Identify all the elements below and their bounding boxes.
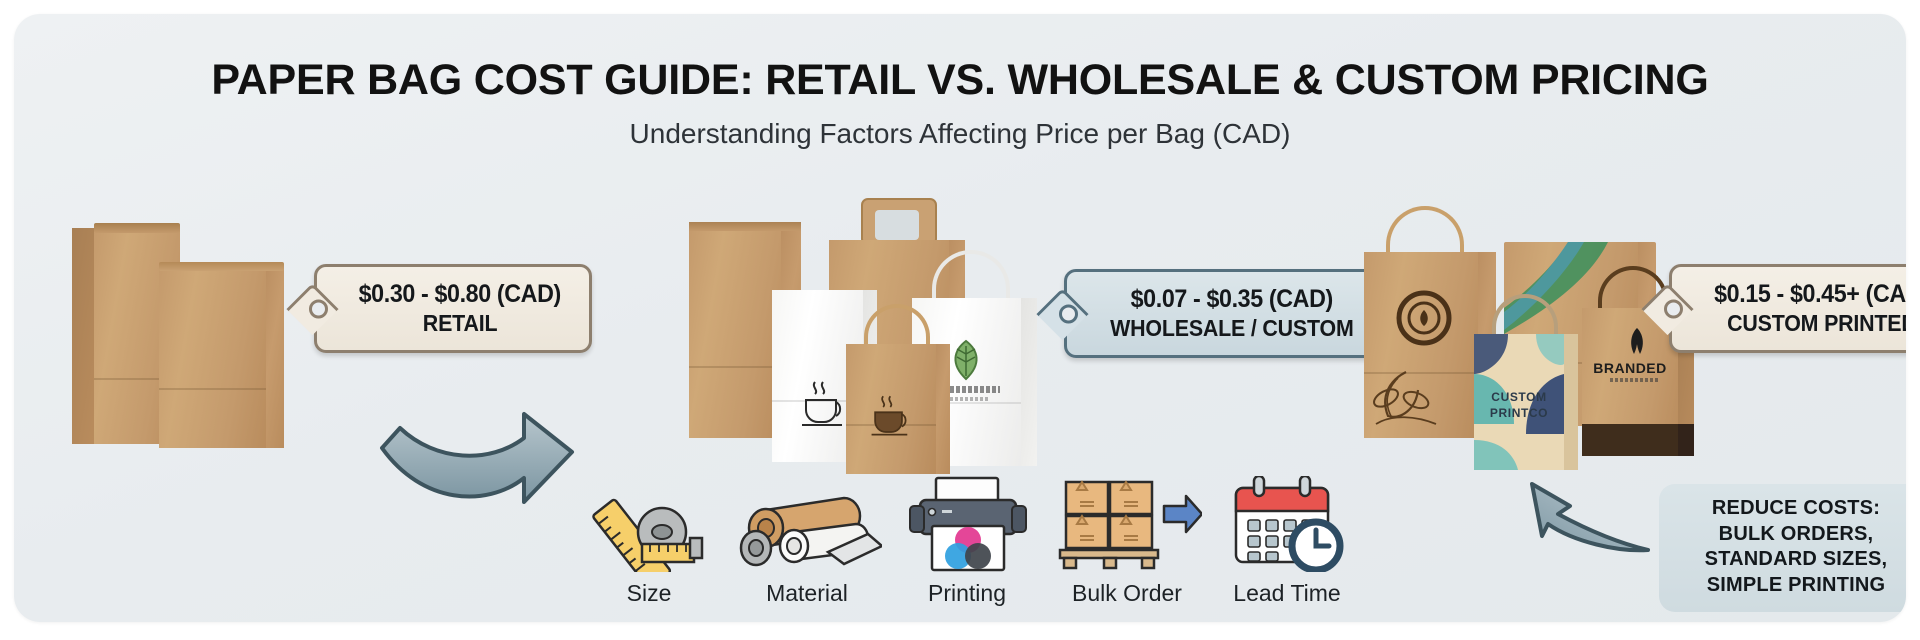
coffee-cup-print-icon-small <box>868 392 918 438</box>
factor-material-label: Material <box>732 580 882 607</box>
branded-print-text: BRANDED <box>1582 360 1678 376</box>
page-title: PAPER BAG COST GUIDE: RETAIL VS. WHOLESA… <box>14 56 1906 105</box>
arrow-reduce-to-custom-icon <box>1522 466 1667 586</box>
infographic-card: PAPER BAG COST GUIDE: RETAIL VS. WHOLESA… <box>14 14 1906 622</box>
reduce-costs-line-3: STANDARD SIZES, <box>1671 547 1906 573</box>
price-range-wholesale: $0.07 - $0.35 (CAD) <box>1131 285 1333 314</box>
tag-hole-icon <box>1059 304 1078 323</box>
custom-printco-bag: CUSTOM PRINTCO <box>1474 334 1578 470</box>
page-subtitle: Understanding Factors Affecting Price pe… <box>14 118 1906 150</box>
leaf-brand-logo-print-icon <box>1620 326 1654 356</box>
bag-group-custom: BRANDED CUSTOM PRINTCO <box>1354 194 1694 464</box>
reduce-costs-box: REDUCE COSTS: BULK ORDERS, STANDARD SIZE… <box>1659 484 1906 612</box>
factor-bulk-order[interactable]: Bulk Order <box>1052 476 1202 607</box>
infographic-canvas: PAPER BAG COST GUIDE: RETAIL VS. WHOLESA… <box>0 0 1920 640</box>
circular-brand-logo-print-icon <box>1396 290 1452 346</box>
leaf-logo-print-icon <box>944 338 988 382</box>
reduce-costs-line-2: BULK ORDERS, <box>1671 522 1906 548</box>
factors-row: Size Material <box>574 476 1374 622</box>
kraft-bag-coffee-small <box>846 344 950 474</box>
tag-hole-icon <box>1664 299 1683 318</box>
price-category-wholesale: WHOLESALE / CUSTOM <box>1110 315 1353 342</box>
price-category-custom: CUSTOM PRINTED <box>1727 310 1906 337</box>
reduce-costs-line-4: SIMPLE PRINTING <box>1671 573 1906 599</box>
ruler-tape-icon <box>574 476 724 572</box>
price-tag-retail[interactable]: $0.30 - $0.80 (CAD) RETAIL <box>314 264 592 353</box>
factor-printing[interactable]: Printing <box>892 476 1042 607</box>
reduce-costs-line-1: REDUCE COSTS: <box>1671 496 1906 522</box>
factor-size[interactable]: Size <box>574 476 724 607</box>
printer-icon <box>892 476 1042 572</box>
factor-lead-time-label: Lead Time <box>1212 580 1362 607</box>
custom-printco-line2: PRINTCO <box>1474 406 1564 420</box>
factor-size-label: Size <box>574 580 724 607</box>
tag-hole-icon <box>309 299 328 318</box>
twisted-handle-icon <box>1386 206 1464 258</box>
botanical-print-icon <box>1368 364 1444 432</box>
factor-bulk-order-label: Bulk Order <box>1052 580 1202 607</box>
bag-group-retail <box>64 214 314 464</box>
price-range-custom: $0.15 - $0.45+ (CAD) <box>1714 280 1906 309</box>
pallet-boxes-icon <box>1052 476 1202 572</box>
custom-printco-line1: CUSTOM <box>1474 390 1564 404</box>
price-tag-custom[interactable]: $0.15 - $0.45+ (CAD) CUSTOM PRINTED <box>1669 264 1906 353</box>
price-tag-wholesale-body: $0.07 - $0.35 (CAD) WHOLESALE / CUSTOM <box>1064 269 1386 358</box>
paper-rolls-icon <box>732 476 882 572</box>
price-range-retail: $0.30 - $0.80 (CAD) <box>359 280 561 309</box>
arrow-retail-to-wholesale-icon <box>374 406 579 511</box>
price-tag-retail-body: $0.30 - $0.80 (CAD) RETAIL <box>314 264 592 353</box>
price-tag-wholesale[interactable]: $0.07 - $0.35 (CAD) WHOLESALE / CUSTOM <box>1064 269 1386 358</box>
factor-printing-label: Printing <box>892 580 1042 607</box>
branded-print-tagline <box>1610 378 1660 382</box>
factor-material[interactable]: Material <box>732 476 882 607</box>
price-tag-custom-body: $0.15 - $0.45+ (CAD) CUSTOM PRINTED <box>1669 264 1906 353</box>
price-category-retail: RETAIL <box>422 310 497 337</box>
kraft-bag-short <box>159 266 284 448</box>
calendar-clock-icon <box>1212 476 1362 572</box>
factor-lead-time[interactable]: Lead Time <box>1212 476 1362 607</box>
bag-group-wholesale <box>684 194 1064 464</box>
